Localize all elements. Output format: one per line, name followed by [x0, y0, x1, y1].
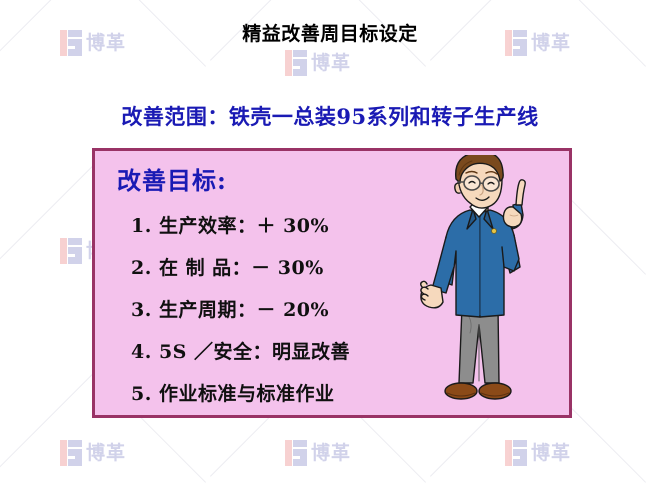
- goals-heading: 改善目标:: [117, 161, 227, 196]
- list-item: 2. 在 制 品：－ 30%: [131, 247, 461, 289]
- slide-canvas: 博革 博革 博革 博革 博革: [0, 0, 660, 495]
- list-item: 5. 作业标准与标准作业: [131, 373, 461, 415]
- goals-list: 1. 生产效率：＋ 30% 2. 在 制 品：－ 30% 3. 生产周期：－ 2…: [131, 205, 461, 415]
- improvement-scope-text: 改善范围：铁壳一总装95系列和转子生产线: [0, 101, 660, 131]
- businessman-illustration-icon: [418, 155, 553, 413]
- page-title: 精益改善周目标设定: [0, 19, 660, 46]
- slide-content: 精益改善周目标设定 改善范围：铁壳一总装95系列和转子生产线 改善目标: 1. …: [0, 0, 660, 495]
- list-item: 1. 生产效率：＋ 30%: [131, 205, 461, 247]
- list-item: 4. 5S ／安全：明显改善: [131, 331, 461, 373]
- list-item: 3. 生产周期：－ 20%: [131, 289, 461, 331]
